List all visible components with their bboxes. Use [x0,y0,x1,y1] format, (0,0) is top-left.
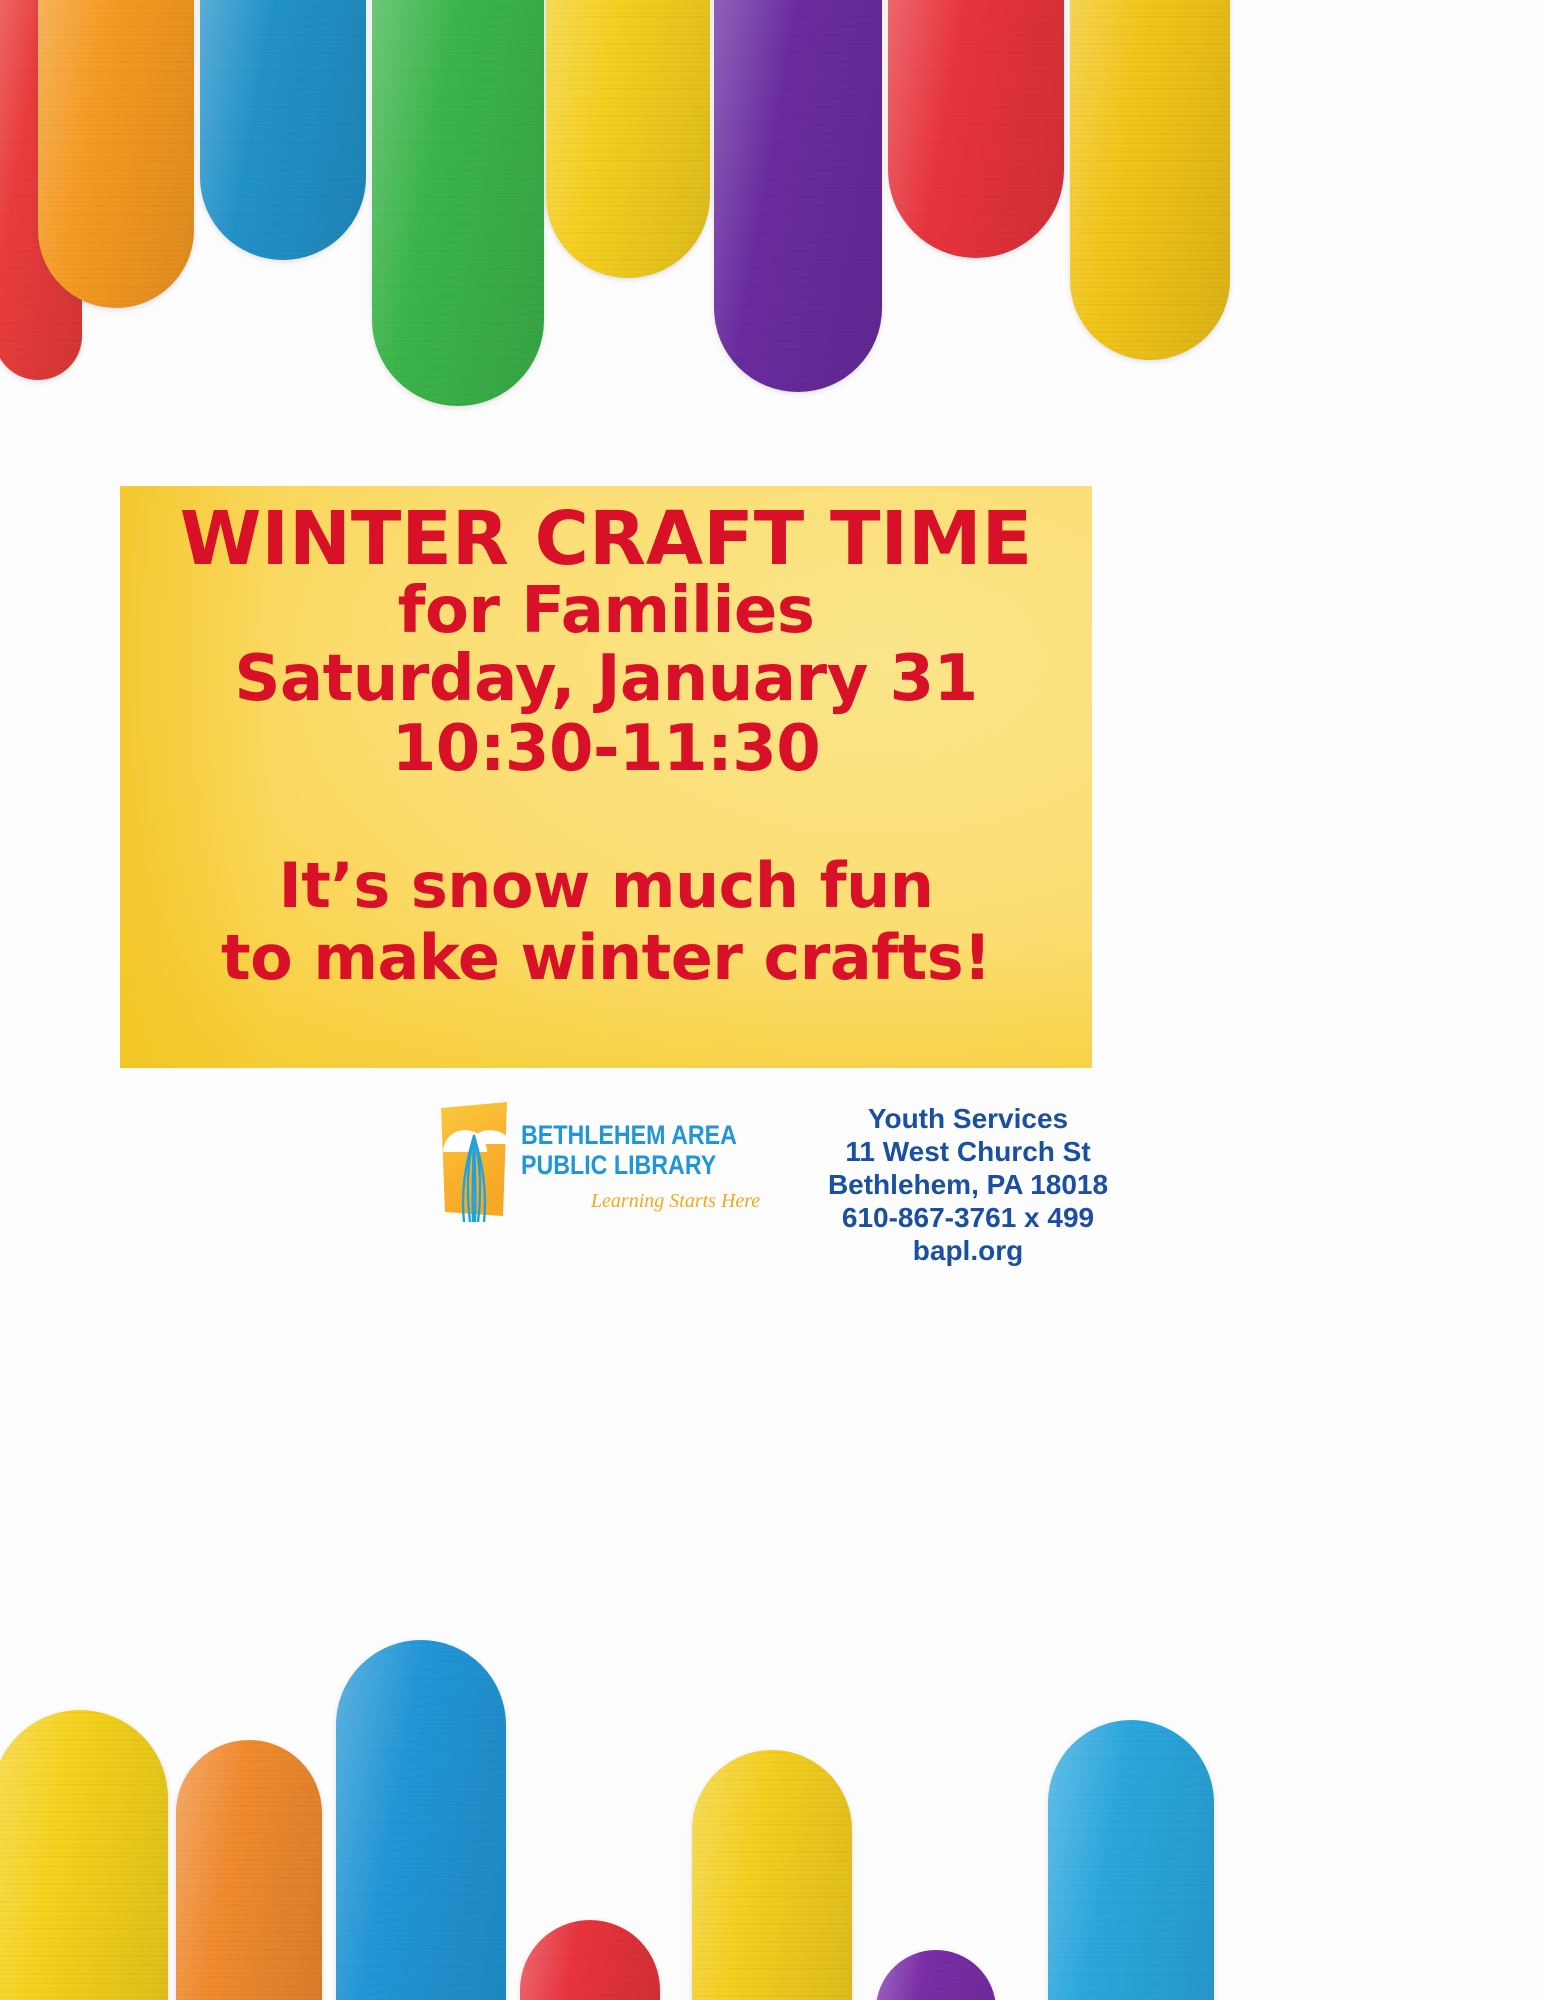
flyer-poster: WINTER CRAFT TIME for Families Saturday,… [0,0,1545,2000]
library-logo-text: BETHLEHEM AREA PUBLIC LIBRARY Learning S… [521,1100,772,1214]
popsicle-stick-body [336,1640,506,2000]
library-name-line2: PUBLIC LIBRARY [521,1150,737,1180]
stick-shading [546,0,710,278]
popsicle-stick-body [1048,1720,1214,2000]
popsicle-stick-body [176,1740,322,2000]
popsicle-stick-body [692,1750,852,2000]
popsicle-stick-body [714,0,882,392]
popsicle-stick-body [38,0,194,308]
banner-spacer [120,784,1092,850]
popsicle-stick [0,1710,168,2000]
event-tagline-line1: It’s snow much fun [120,850,1092,922]
stick-shading [38,0,194,308]
event-subtitle: for Families [120,578,1092,644]
popsicle-stick [336,1640,506,2000]
event-title: WINTER CRAFT TIME [120,500,1092,578]
popsicle-stick-body [876,1950,996,2000]
popsicle-stick-body [372,0,544,406]
stick-shading [0,1710,168,2000]
stick-shading [714,0,882,392]
stick-shading [520,1920,660,2000]
popsicle-stick-body [0,1710,168,2000]
library-tagline: Learning Starts Here [591,1188,772,1214]
stick-shading [200,0,366,260]
contact-info: Youth Services 11 West Church St Bethleh… [828,1092,1108,1267]
popsicle-stick [692,1750,852,2000]
event-tagline-line2: to make winter crafts! [120,922,1092,994]
stick-shading [692,1750,852,2000]
contact-city: Bethlehem, PA 18018 [828,1168,1108,1201]
popsicle-stick [200,0,366,260]
bottom-popsicle-stick-decoration [0,1600,1545,2000]
event-time: 10:30-11:30 [120,714,1092,784]
contact-website[interactable]: bapl.org [828,1234,1108,1267]
library-logo: BETHLEHEM AREA PUBLIC LIBRARY Learning S… [437,1092,772,1222]
popsicle-stick [38,0,194,308]
contact-street: 11 West Church St [828,1135,1108,1168]
footer: BETHLEHEM AREA PUBLIC LIBRARY Learning S… [0,1092,1545,1282]
library-name-line1: BETHLEHEM AREA [521,1120,737,1150]
popsicle-stick [1070,0,1230,360]
stick-shading [176,1740,322,2000]
contact-department: Youth Services [828,1102,1108,1135]
stick-shading [1070,0,1230,360]
stick-shading [372,0,544,406]
popsicle-stick [546,0,710,278]
popsicle-stick [888,0,1064,258]
popsicle-stick-body [546,0,710,278]
contact-phone: 610-867-3761 x 499 [828,1201,1108,1234]
stick-shading [1048,1720,1214,2000]
event-date: Saturday, January 31 [120,644,1092,714]
popsicle-stick [372,0,544,406]
stick-shading [888,0,1064,258]
popsicle-stick-body [1070,0,1230,360]
popsicle-stick-body [888,0,1064,258]
popsicle-stick [876,1950,996,2000]
event-banner: WINTER CRAFT TIME for Families Saturday,… [120,486,1092,1068]
top-popsicle-stick-decoration [0,0,1545,470]
stick-shading [876,1950,996,2000]
popsicle-stick [1048,1720,1214,2000]
banner-text-group: WINTER CRAFT TIME for Families Saturday,… [120,486,1092,994]
popsicle-stick-body [200,0,366,260]
stick-shading [336,1640,506,2000]
popsicle-stick [176,1740,322,2000]
popsicle-stick [714,0,882,392]
popsicle-stick-body [520,1920,660,2000]
popsicle-stick [520,1920,660,2000]
library-logo-mark-icon [437,1100,511,1222]
